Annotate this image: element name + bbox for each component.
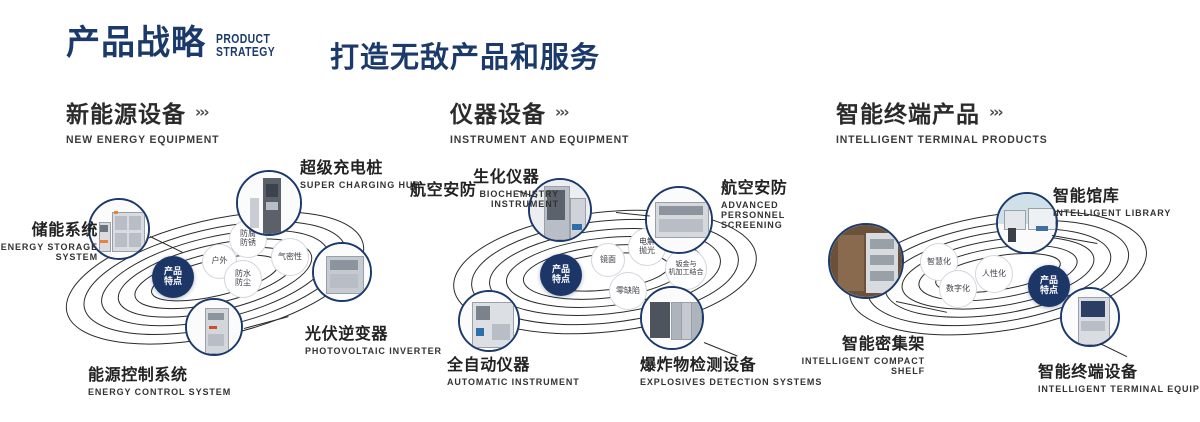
label-energy-storage-system: 储能系统 ENERGY STORAGE SYSTEM [0, 216, 98, 262]
core-bubble-line2: 特点 [164, 277, 182, 287]
chevron-right-icon: ››› [989, 103, 1002, 121]
infographic-canvas: 产品战略 PRODUCT STRATEGY 打造无敌产品和服务 新能源设备 ››… [0, 0, 1200, 422]
photo-explosives-detection-systems [642, 288, 702, 348]
label-en: EXPLOSIVES DETECTION SYSTEMS [640, 377, 822, 387]
label-cn: 生化仪器 [473, 163, 559, 187]
section-title-cn: 智能终端产品 ››› [836, 95, 1059, 129]
feature-bubble-line1: 防水 [235, 269, 251, 278]
page-header: 产品战略 PRODUCT STRATEGY [66, 26, 290, 60]
photo-energy-control-system [187, 300, 241, 354]
label-en: BIOCHEMISTRY INSTRUMENT [473, 189, 559, 209]
section-title-cn-text: 智能终端产品 [836, 95, 980, 129]
chevron-right-icon: ››› [555, 103, 568, 121]
node-energy-control-system[interactable] [185, 298, 243, 356]
section-title-cn: 新能源设备 ››› [66, 95, 227, 129]
feature-bubble-airtightness[interactable]: 气密性 [271, 238, 309, 276]
label-en: INTELLIGENT LIBRARY [1053, 208, 1171, 218]
label-en: ENERGY STORAGE SYSTEM [0, 242, 98, 262]
feature-bubble-label: 智慧化 [927, 258, 951, 267]
section-title-en: INSTRUMENT AND EQUIPMENT [450, 134, 629, 146]
label-cn: 航空安防 [410, 176, 476, 200]
feature-bubble-user-friendly[interactable]: 人性化 [975, 255, 1013, 293]
node-super-charging-hub[interactable] [236, 170, 302, 236]
photo-intelligent-compact-shelf [830, 225, 902, 297]
section-title-en: INTELLIGENT TERMINAL PRODUCTS [836, 134, 1048, 146]
label-cn: 智能终端设备 [1038, 358, 1200, 382]
section-title-cn: 仪器设备 ››› [450, 95, 639, 129]
page-title: 产品战略 [66, 26, 206, 60]
photo-photovoltaic-inverter [314, 244, 370, 300]
label-cn: 智能密集架 [800, 330, 925, 354]
label-en: INTELLIGENT COMPACT SHELF [800, 356, 925, 376]
node-intelligent-terminal-equipment[interactable] [1060, 287, 1120, 347]
label-cn: 智能馆库 [1053, 182, 1171, 206]
label-cn: 全自动仪器 [447, 351, 580, 375]
section-title-en: NEW ENERGY EQUIPMENT [66, 134, 219, 146]
label-cn: 能源控制系统 [88, 361, 231, 385]
label-intelligent-terminal-equipment: 智能终端设备 INTELLIGENT TERMINAL EQUIPMENT [1038, 358, 1200, 394]
page-subtitle: 打造无敌产品和服务 [330, 34, 600, 76]
label-en: AUTOMATIC INSTRUMENT [447, 377, 580, 387]
core-bubble-line1: 产品 [1040, 276, 1058, 286]
section-title-cn-text: 仪器设备 [450, 95, 546, 129]
node-advanced-personnel-screening[interactable] [645, 186, 713, 254]
core-bubble-line1: 产品 [164, 267, 182, 277]
feature-bubble-sheetmetal-machining[interactable]: 钣金与 机加工结合 [665, 248, 707, 290]
core-bubble-line1: 产品 [552, 265, 570, 275]
label-aviation-security-left: 航空安防 [410, 176, 476, 200]
label-explosives-detection-systems: 爆炸物检测设备 EXPLOSIVES DETECTION SYSTEMS [640, 351, 822, 387]
label-intelligent-compact-shelf: 智能密集架 INTELLIGENT COMPACT SHELF [800, 330, 925, 376]
label-cn: 储能系统 [0, 216, 98, 240]
feature-bubble-line2: 防尘 [235, 278, 251, 287]
feature-bubble-line2: 机加工结合 [669, 268, 704, 276]
core-bubble-line2: 特点 [552, 275, 570, 285]
node-intelligent-compact-shelf[interactable] [828, 223, 904, 299]
feature-bubble-line2: 防锈 [240, 238, 256, 247]
label-energy-control-system: 能源控制系统 ENERGY CONTROL SYSTEM [88, 361, 231, 397]
feature-bubble-label: 零缺陷 [616, 287, 640, 296]
photo-energy-storage-system [90, 200, 148, 258]
photo-intelligent-terminal-equipment [1062, 289, 1118, 345]
core-bubble-line2: 特点 [1040, 286, 1058, 296]
label-en: INTELLIGENT TERMINAL EQUIPMENT [1038, 384, 1200, 394]
section-title-cn-text: 新能源设备 [66, 95, 186, 129]
feature-bubble-mirror-finish[interactable]: 镜面 [591, 243, 625, 277]
feature-bubble-waterproof[interactable]: 防水 防尘 [224, 260, 262, 298]
photo-super-charging-hub [238, 172, 300, 234]
core-bubble-product-features[interactable]: 产品 特点 [540, 254, 582, 296]
feature-bubble-label: 气密性 [278, 253, 302, 262]
node-automatic-instrument[interactable] [458, 290, 520, 352]
label-intelligent-library: 智能馆库 INTELLIGENT LIBRARY [1053, 182, 1171, 218]
core-bubble-product-features[interactable]: 产品 特点 [152, 256, 194, 298]
section-title-new-energy: 新能源设备 ››› NEW ENERGY EQUIPMENT [66, 95, 227, 146]
page-title-english-line2: STRATEGY [216, 45, 275, 58]
section-title-instrument: 仪器设备 ››› INSTRUMENT AND EQUIPMENT [450, 95, 639, 146]
photo-automatic-instrument [460, 292, 518, 350]
feature-bubble-label: 人性化 [982, 270, 1006, 279]
chevron-right-icon: ››› [195, 103, 208, 121]
feature-bubble-label: 数字化 [946, 285, 970, 294]
feature-bubble-digital[interactable]: 数字化 [939, 270, 977, 308]
feature-bubble-label: 镜面 [600, 256, 616, 265]
photo-intelligent-library [998, 194, 1056, 252]
page-title-english: PRODUCT STRATEGY [216, 32, 275, 58]
label-biochemistry-instrument: 生化仪器 BIOCHEMISTRY INSTRUMENT [473, 163, 559, 209]
section-title-intelligent-terminal: 智能终端产品 ››› INTELLIGENT TERMINAL PRODUCTS [836, 95, 1059, 146]
feature-bubble-line1: 钣金与 [676, 260, 697, 268]
node-photovoltaic-inverter[interactable] [312, 242, 372, 302]
label-en: ENERGY CONTROL SYSTEM [88, 387, 231, 397]
photo-advanced-personnel-screening [647, 188, 711, 252]
label-automatic-instrument: 全自动仪器 AUTOMATIC INSTRUMENT [447, 351, 580, 387]
label-cn: 爆炸物检测设备 [640, 351, 822, 375]
node-explosives-detection-systems[interactable] [640, 286, 704, 350]
feature-bubble-label: 户外 [212, 257, 228, 266]
node-intelligent-library[interactable] [996, 192, 1058, 254]
